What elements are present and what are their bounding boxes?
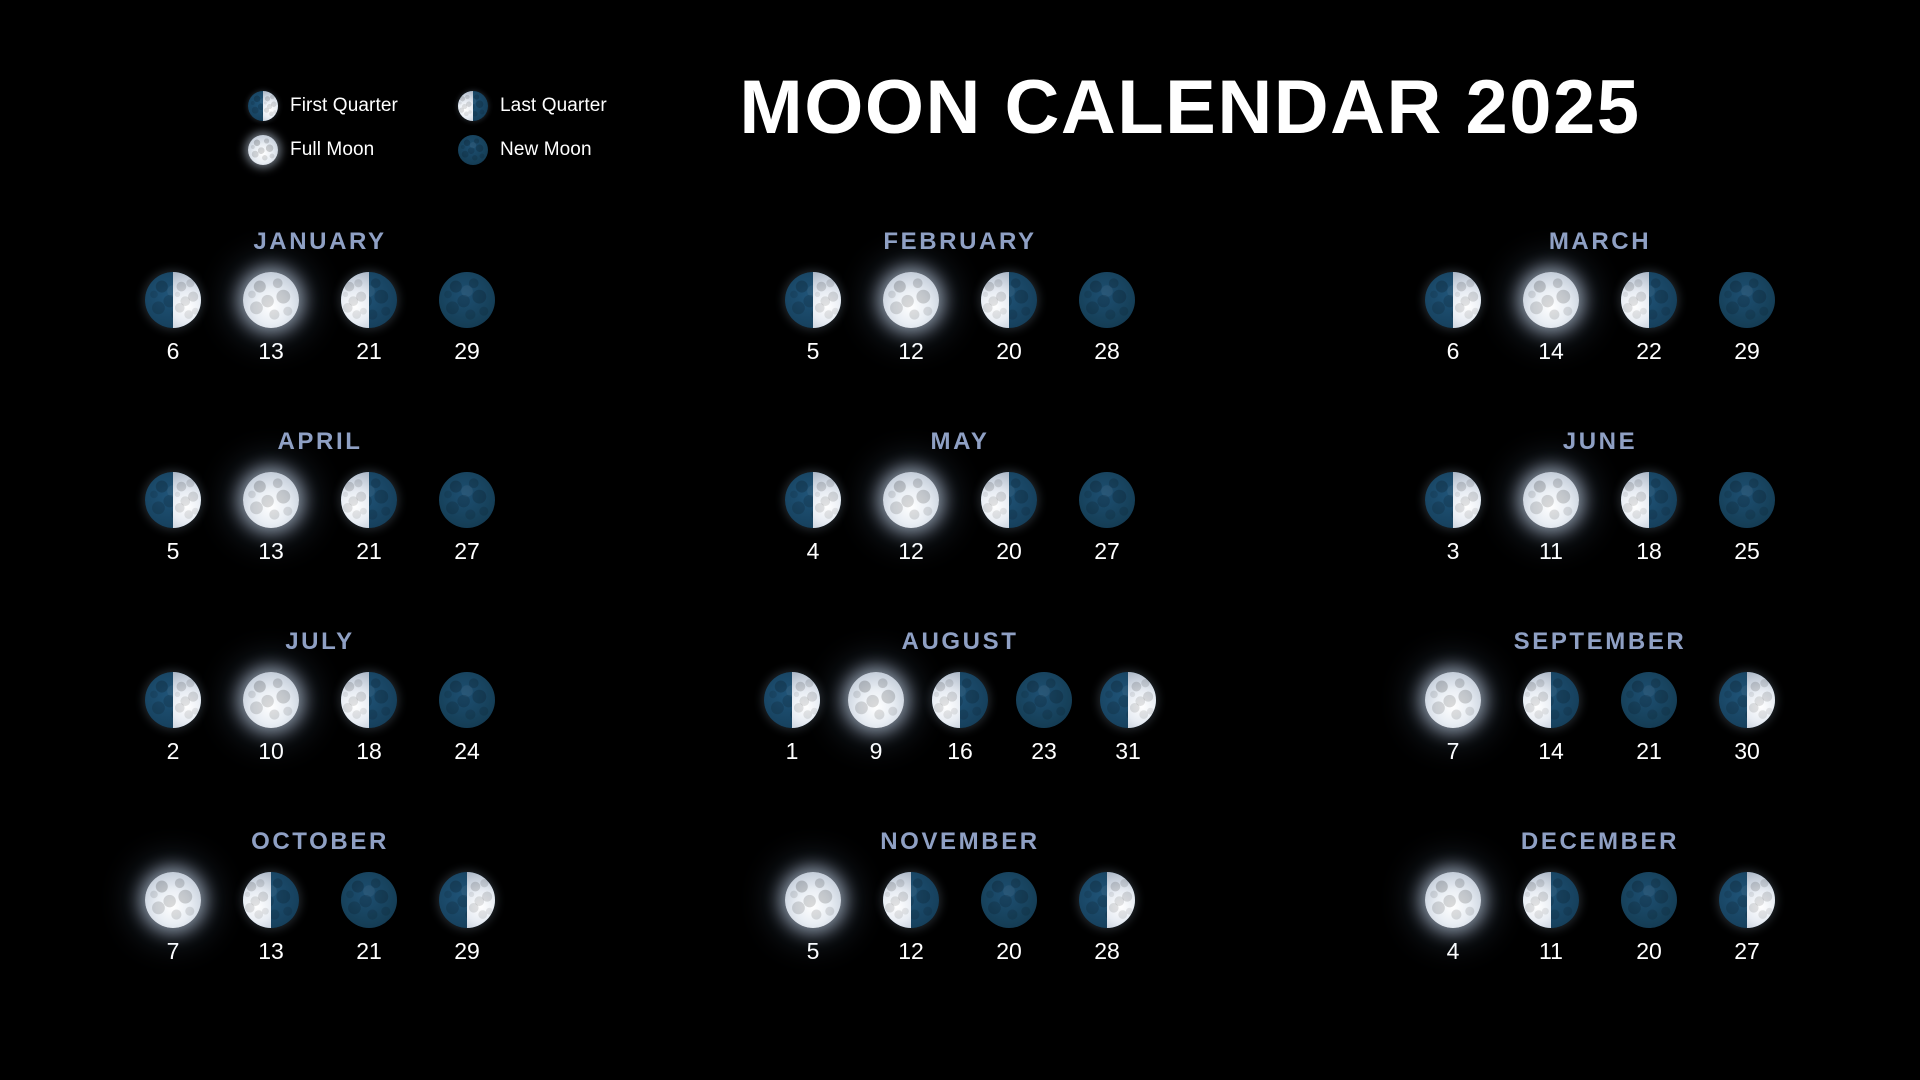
moon-disc — [145, 472, 201, 528]
last-quarter-moon-icon — [932, 672, 988, 728]
first-quarter-moon-icon — [1719, 672, 1775, 728]
phase-date: 5 — [167, 540, 180, 563]
moon-lit-half — [1523, 872, 1551, 928]
phase-entry[interactable]: 30 — [1716, 672, 1778, 763]
phase-entry[interactable]: 29 — [436, 272, 498, 363]
moon-lit-half — [1128, 672, 1156, 728]
moon-craters — [243, 672, 299, 728]
moon-craters — [1453, 472, 1481, 528]
phase-date: 14 — [1538, 340, 1564, 363]
moon-craters — [792, 672, 820, 728]
moon-lit-half — [341, 472, 369, 528]
phase-entry[interactable]: 20 — [978, 472, 1040, 563]
moon-lit-half — [263, 91, 278, 121]
phase-entry[interactable]: 2 — [142, 672, 204, 763]
phase-entry[interactable]: 21 — [1618, 672, 1680, 763]
moon-craters — [883, 272, 939, 328]
phase-row: 4122027 — [782, 472, 1138, 563]
moon-disc — [243, 672, 299, 728]
phase-date: 18 — [1636, 540, 1662, 563]
moon-lit-half — [813, 472, 841, 528]
moon-lit-half — [813, 272, 841, 328]
phase-entry[interactable]: 7 — [142, 872, 204, 963]
phase-date: 12 — [898, 340, 924, 363]
moon-craters — [341, 872, 397, 928]
moon-disc — [341, 472, 397, 528]
moon-disc — [145, 272, 201, 328]
month-block-october: OCTOBER7132129 — [0, 828, 640, 1028]
moon-disc — [458, 91, 488, 121]
first-quarter-moon-icon — [1079, 872, 1135, 928]
phase-entry[interactable]: 27 — [436, 472, 498, 563]
moon-craters — [981, 872, 1037, 928]
last-quarter-moon-icon — [1621, 472, 1677, 528]
page-title: MOON CALENDAR 2025 — [680, 70, 1700, 146]
full-moon-icon — [1425, 672, 1481, 728]
phase-entry[interactable]: 29 — [436, 872, 498, 963]
legend-item-label: New Moon — [500, 139, 592, 161]
month-block-may: MAY4122027 — [640, 428, 1280, 628]
moon-craters — [848, 672, 904, 728]
calendar-grid: JANUARY6132129FEBRUARY5122028MARCH614222… — [0, 228, 1920, 1028]
moon-lit-half — [173, 272, 201, 328]
moon-disc — [341, 272, 397, 328]
phase-entry[interactable]: 22 — [1618, 272, 1680, 363]
phase-row: 2101824 — [142, 672, 498, 763]
phase-entry[interactable]: 13 — [240, 272, 302, 363]
moon-disc — [932, 672, 988, 728]
phase-row: 5122028 — [782, 272, 1138, 363]
phase-entry[interactable]: 28 — [1076, 272, 1138, 363]
moon-craters — [1079, 472, 1135, 528]
moon-craters — [145, 872, 201, 928]
last-quarter-moon-icon — [243, 872, 299, 928]
phase-date: 6 — [167, 340, 180, 363]
new-moon-icon — [981, 872, 1037, 928]
moon-disc — [1016, 672, 1072, 728]
moon-lit-half — [1107, 872, 1135, 928]
first-quarter-moon-icon — [1425, 272, 1481, 328]
legend-item-label: First Quarter — [290, 95, 398, 117]
moon-craters — [1425, 672, 1481, 728]
full-moon-icon — [883, 472, 939, 528]
month-block-february: FEBRUARY5122028 — [640, 228, 1280, 428]
new-moon-icon — [341, 872, 397, 928]
moon-disc — [243, 272, 299, 328]
moon-craters — [883, 472, 939, 528]
moon-craters — [981, 272, 1009, 328]
first-quarter-moon-icon — [785, 272, 841, 328]
phase-entry[interactable]: 12 — [880, 872, 942, 963]
phase-row: 5132127 — [142, 472, 498, 563]
moon-disc — [1079, 872, 1135, 928]
month-name: OCTOBER — [251, 828, 389, 856]
moon-disc — [785, 872, 841, 928]
month-block-june: JUNE3111825 — [1280, 428, 1920, 628]
phase-entry[interactable]: 9 — [845, 672, 907, 763]
first-quarter-moon-icon — [439, 872, 495, 928]
moon-craters — [1523, 872, 1551, 928]
legend-item-label: Full Moon — [290, 139, 374, 161]
month-name: MAY — [931, 428, 990, 456]
moon-disc — [1523, 272, 1579, 328]
phase-date: 21 — [356, 940, 382, 963]
phase-date: 13 — [258, 940, 284, 963]
moon-craters — [1719, 272, 1775, 328]
phase-entry[interactable]: 25 — [1716, 472, 1778, 563]
new-moon-icon — [1719, 472, 1775, 528]
moon-craters — [1016, 672, 1072, 728]
phase-date: 20 — [1636, 940, 1662, 963]
moon-craters — [981, 472, 1009, 528]
new-moon-icon — [1719, 272, 1775, 328]
phase-date: 29 — [1734, 340, 1760, 363]
phase-entry[interactable]: 20 — [978, 272, 1040, 363]
phase-entry[interactable]: 29 — [1716, 272, 1778, 363]
phase-date: 6 — [1447, 340, 1460, 363]
phase-date: 21 — [356, 340, 382, 363]
phase-entry[interactable]: 1 — [761, 672, 823, 763]
moon-craters — [439, 272, 495, 328]
moon-disc — [458, 135, 488, 165]
first-quarter-moon-icon — [248, 91, 278, 121]
header: First QuarterLast QuarterFull MoonNew Mo… — [0, 0, 1920, 190]
phase-date: 31 — [1115, 740, 1141, 763]
moon-craters — [341, 272, 369, 328]
phase-entry[interactable]: 6 — [142, 272, 204, 363]
moon-lit-half — [341, 672, 369, 728]
phase-date: 4 — [807, 540, 820, 563]
moon-disc — [1079, 472, 1135, 528]
first-quarter-moon-icon — [1719, 872, 1775, 928]
phase-entry[interactable]: 16 — [929, 672, 991, 763]
phase-row: 7142130 — [1422, 672, 1778, 763]
full-moon-icon — [243, 672, 299, 728]
phase-date: 22 — [1636, 340, 1662, 363]
phase-date: 24 — [454, 740, 480, 763]
moon-disc — [1719, 472, 1775, 528]
moon-disc — [243, 872, 299, 928]
month-name: AUGUST — [902, 628, 1019, 656]
moon-disc — [439, 872, 495, 928]
last-quarter-moon-icon — [1523, 672, 1579, 728]
moon-craters — [1079, 272, 1135, 328]
phase-date: 5 — [807, 340, 820, 363]
moon-craters — [248, 135, 278, 165]
phase-entry[interactable]: 12 — [880, 272, 942, 363]
phase-entry[interactable]: 21 — [338, 872, 400, 963]
full-moon-icon — [785, 872, 841, 928]
phase-date: 7 — [167, 940, 180, 963]
moon-craters — [813, 472, 841, 528]
moon-craters — [243, 872, 271, 928]
phase-date: 20 — [996, 340, 1022, 363]
moon-disc — [883, 272, 939, 328]
phase-entry[interactable]: 11 — [1520, 872, 1582, 963]
moon-disc — [243, 472, 299, 528]
phase-entry[interactable]: 10 — [240, 672, 302, 763]
phase-date: 1 — [786, 740, 799, 763]
month-name: JUNE — [1563, 428, 1637, 456]
moon-disc — [848, 672, 904, 728]
moon-disc — [439, 272, 495, 328]
moon-craters — [173, 672, 201, 728]
moon-disc — [764, 672, 820, 728]
moon-disc — [1523, 672, 1579, 728]
month-block-january: JANUARY6132129 — [0, 228, 640, 428]
moon-disc — [1100, 672, 1156, 728]
moon-craters — [173, 272, 201, 328]
moon-disc — [1621, 872, 1677, 928]
phase-date: 20 — [996, 940, 1022, 963]
phase-row: 6132129 — [142, 272, 498, 363]
phase-row: 6142229 — [1422, 272, 1778, 363]
moon-craters — [1523, 272, 1579, 328]
month-name: JANUARY — [253, 228, 386, 256]
full-moon-icon — [243, 272, 299, 328]
moon-disc — [785, 272, 841, 328]
phase-entry[interactable]: 20 — [1618, 872, 1680, 963]
phase-entry[interactable]: 4 — [1422, 872, 1484, 963]
phase-entry[interactable]: 28 — [1076, 872, 1138, 963]
moon-disc — [1621, 672, 1677, 728]
moon-craters — [243, 472, 299, 528]
month-name: SEPTEMBER — [1514, 628, 1687, 656]
phase-date: 2 — [167, 740, 180, 763]
month-block-december: DECEMBER4112027 — [1280, 828, 1920, 1028]
phase-entry[interactable]: 5 — [142, 472, 204, 563]
moon-craters — [439, 472, 495, 528]
phase-entry[interactable]: 14 — [1520, 672, 1582, 763]
moon-disc — [439, 672, 495, 728]
moon-craters — [785, 872, 841, 928]
phase-date: 28 — [1094, 940, 1120, 963]
moon-craters — [1621, 472, 1649, 528]
phase-entry[interactable]: 14 — [1520, 272, 1582, 363]
moon-lit-half — [173, 472, 201, 528]
phase-date: 14 — [1538, 740, 1564, 763]
new-moon-icon — [458, 135, 488, 165]
moon-lit-half — [458, 91, 473, 121]
moon-disc — [1425, 472, 1481, 528]
legend-item-last: Last Quarter — [458, 91, 668, 121]
phase-entry[interactable]: 5 — [782, 872, 844, 963]
moon-lit-half — [981, 272, 1009, 328]
moon-lit-half — [981, 472, 1009, 528]
phase-entry[interactable]: 4 — [782, 472, 844, 563]
month-block-march: MARCH6142229 — [1280, 228, 1920, 428]
phase-entry[interactable]: 24 — [436, 672, 498, 763]
moon-lit-half — [1621, 272, 1649, 328]
phase-date: 30 — [1734, 740, 1760, 763]
new-moon-icon — [1621, 672, 1677, 728]
phase-entry[interactable]: 12 — [880, 472, 942, 563]
first-quarter-moon-icon — [785, 472, 841, 528]
month-block-july: JULY2101824 — [0, 628, 640, 828]
moon-lit-half — [792, 672, 820, 728]
new-moon-icon — [1016, 672, 1072, 728]
moon-disc — [1523, 472, 1579, 528]
moon-craters — [1523, 672, 1551, 728]
phase-date: 7 — [1447, 740, 1460, 763]
phase-entry[interactable]: 31 — [1097, 672, 1159, 763]
phase-row: 3111825 — [1422, 472, 1778, 563]
phase-date: 20 — [996, 540, 1022, 563]
moon-disc — [981, 872, 1037, 928]
moon-disc — [883, 872, 939, 928]
phase-date: 16 — [947, 740, 973, 763]
moon-lit-half — [1747, 672, 1775, 728]
phase-entry[interactable]: 27 — [1076, 472, 1138, 563]
month-block-september: SEPTEMBER7142130 — [1280, 628, 1920, 828]
moon-disc — [1079, 272, 1135, 328]
phase-entry[interactable]: 21 — [338, 472, 400, 563]
month-block-august: AUGUST19162331 — [640, 628, 1280, 828]
moon-craters — [1107, 872, 1135, 928]
last-quarter-moon-icon — [1621, 272, 1677, 328]
moon-lit-half — [883, 872, 911, 928]
moon-lit-half — [243, 872, 271, 928]
moon-disc — [248, 135, 278, 165]
moon-calendar-page: First QuarterLast QuarterFull MoonNew Mo… — [0, 0, 1920, 1080]
moon-craters — [1128, 672, 1156, 728]
moon-disc — [1621, 272, 1677, 328]
moon-craters — [1453, 272, 1481, 328]
moon-disc — [439, 472, 495, 528]
phase-date: 27 — [1094, 540, 1120, 563]
first-quarter-moon-icon — [145, 272, 201, 328]
phase-entry[interactable]: 11 — [1520, 472, 1582, 563]
phase-date: 21 — [356, 540, 382, 563]
moon-disc — [981, 472, 1037, 528]
moon-craters — [1719, 472, 1775, 528]
moon-lit-half — [932, 672, 960, 728]
moon-disc — [341, 872, 397, 928]
full-moon-icon — [1425, 872, 1481, 928]
moon-craters — [883, 872, 911, 928]
new-moon-icon — [1079, 272, 1135, 328]
phase-date: 13 — [258, 540, 284, 563]
phase-entry[interactable]: 23 — [1013, 672, 1075, 763]
last-quarter-moon-icon — [341, 672, 397, 728]
moon-craters — [813, 272, 841, 328]
moon-disc — [1719, 672, 1775, 728]
phase-date: 18 — [356, 740, 382, 763]
moon-lit-half — [173, 672, 201, 728]
moon-craters — [467, 872, 495, 928]
phase-entry[interactable]: 20 — [978, 872, 1040, 963]
phase-entry[interactable]: 18 — [1618, 472, 1680, 563]
moon-disc — [1425, 872, 1481, 928]
legend-item-first: First Quarter — [248, 91, 458, 121]
phase-date: 5 — [807, 940, 820, 963]
moon-lit-half — [467, 872, 495, 928]
full-moon-icon — [883, 272, 939, 328]
phase-entry[interactable]: 13 — [240, 872, 302, 963]
last-quarter-moon-icon — [341, 272, 397, 328]
month-name: MARCH — [1549, 228, 1651, 256]
phase-date: 12 — [898, 540, 924, 563]
moon-lit-half — [341, 272, 369, 328]
phase-date: 13 — [258, 340, 284, 363]
phase-entry[interactable]: 13 — [240, 472, 302, 563]
phase-date: 12 — [898, 940, 924, 963]
phase-date: 23 — [1031, 740, 1057, 763]
phase-date: 3 — [1447, 540, 1460, 563]
moon-disc — [341, 672, 397, 728]
phase-date: 11 — [1539, 540, 1563, 563]
moon-craters — [243, 272, 299, 328]
new-moon-icon — [439, 472, 495, 528]
month-name: FEBRUARY — [883, 228, 1036, 256]
last-quarter-moon-icon — [883, 872, 939, 928]
legend-item-label: Last Quarter — [500, 95, 607, 117]
first-quarter-moon-icon — [1425, 472, 1481, 528]
phase-entry[interactable]: 27 — [1716, 872, 1778, 963]
moon-disc — [1425, 272, 1481, 328]
moon-disc — [981, 272, 1037, 328]
phase-row: 4112027 — [1422, 872, 1778, 963]
phase-entry[interactable]: 6 — [1422, 272, 1484, 363]
moon-craters — [1621, 272, 1649, 328]
moon-disc — [1719, 872, 1775, 928]
phase-entry[interactable]: 21 — [338, 272, 400, 363]
full-moon-icon — [145, 872, 201, 928]
last-quarter-moon-icon — [981, 472, 1037, 528]
phase-legend: First QuarterLast QuarterFull MoonNew Mo… — [248, 84, 668, 172]
moon-craters — [932, 672, 960, 728]
phase-entry[interactable]: 18 — [338, 672, 400, 763]
moon-craters — [458, 135, 488, 165]
phase-date: 27 — [454, 540, 480, 563]
moon-craters — [1747, 672, 1775, 728]
moon-lit-half — [1453, 472, 1481, 528]
phase-row: 7132129 — [142, 872, 498, 963]
last-quarter-moon-icon — [341, 472, 397, 528]
phase-entry[interactable]: 7 — [1422, 672, 1484, 763]
first-quarter-moon-icon — [145, 672, 201, 728]
phase-date: 11 — [1539, 940, 1563, 963]
phase-date: 29 — [454, 340, 480, 363]
month-name: APRIL — [278, 428, 363, 456]
phase-entry[interactable]: 5 — [782, 272, 844, 363]
full-moon-icon — [243, 472, 299, 528]
month-name: NOVEMBER — [880, 828, 1039, 856]
phase-date: 27 — [1734, 940, 1760, 963]
moon-disc — [1621, 472, 1677, 528]
moon-craters — [1621, 672, 1677, 728]
moon-disc — [1523, 872, 1579, 928]
month-block-november: NOVEMBER5122028 — [640, 828, 1280, 1028]
new-moon-icon — [1079, 472, 1135, 528]
moon-disc — [145, 872, 201, 928]
moon-craters — [173, 472, 201, 528]
moon-disc — [1425, 672, 1481, 728]
new-moon-icon — [439, 672, 495, 728]
moon-craters — [1621, 872, 1677, 928]
moon-craters — [1425, 872, 1481, 928]
phase-entry[interactable]: 3 — [1422, 472, 1484, 563]
new-moon-icon — [439, 272, 495, 328]
full-moon-icon — [1523, 472, 1579, 528]
legend-item-full: Full Moon — [248, 135, 458, 165]
phase-row: 5122028 — [782, 872, 1138, 963]
phase-row: 19162331 — [761, 672, 1159, 763]
month-block-april: APRIL5132127 — [0, 428, 640, 628]
phase-date: 4 — [1447, 940, 1460, 963]
first-quarter-moon-icon — [1100, 672, 1156, 728]
legend-item-new: New Moon — [458, 135, 668, 165]
